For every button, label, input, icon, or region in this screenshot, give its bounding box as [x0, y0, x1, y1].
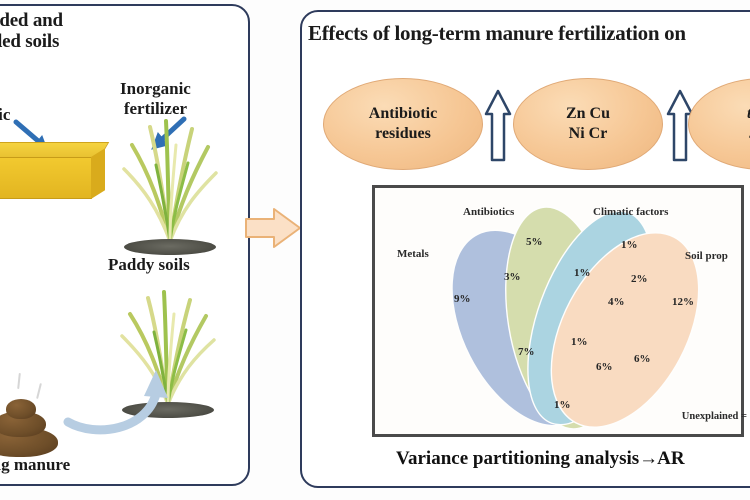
right-arrow-icon [244, 205, 304, 251]
venn-unexplained-label: Unexplained = [682, 411, 747, 422]
ellipse-antibiotic-residues: Antibiotic residues [323, 78, 483, 170]
venn-percent: 6% [596, 361, 613, 373]
ellipse-metals: Zn Cu Ni Cr [513, 78, 663, 170]
venn-label-antibiotics: Antibiotics [463, 206, 514, 218]
rice-plant-icon [110, 105, 230, 255]
venn-percent: 1% [574, 267, 591, 279]
figure-canvas: nic-amended andre-amended soils otic Ino… [0, 0, 750, 500]
venn-percent: 4% [608, 296, 625, 308]
venn-percent: 12% [672, 296, 694, 308]
venn-percent: 1% [571, 336, 588, 348]
caption-tail: AR [657, 448, 684, 469]
caption-text: Variance partitioning analysis [396, 448, 639, 469]
venn-label-metals: Metals [397, 248, 429, 260]
venn-percent: 2% [631, 273, 648, 285]
ellipse-line-2: Ni Cr [566, 124, 610, 144]
antibiotic-block-icon [0, 142, 100, 200]
venn-label-soil: Soil prop [685, 250, 728, 262]
ellipse-line-1: Antibiotic [369, 104, 437, 124]
curved-arrow-icon [62, 360, 182, 440]
paddy-soils-label: Paddy soils [108, 255, 190, 274]
venn-percent: 1% [621, 239, 638, 251]
venn-percent: 3% [504, 271, 521, 283]
right-panel-title: Effects of long-term manure fertilizatio… [308, 22, 686, 46]
manure-pile-icon [0, 385, 62, 457]
venn-percent: 6% [634, 353, 651, 365]
antibiotic-label: otic [0, 105, 10, 124]
caption-arrow-icon: → [639, 448, 657, 469]
venn-ellipses [375, 188, 741, 434]
venn-percent: 7% [518, 346, 535, 358]
venn-percent: 5% [526, 236, 543, 248]
ellipse-line-2: residues [369, 124, 437, 144]
venn-percent: 1% [554, 399, 571, 411]
venn-label-climatic: Climatic factors [593, 206, 668, 218]
up-arrow-icon [483, 88, 513, 164]
venn-caption: Variance partitioning analysis→AR [396, 448, 685, 470]
pig-manure-label: Pig manure [0, 455, 70, 474]
venn-diagram-panel: Metals Antibiotics Climatic factors Soil… [372, 185, 744, 437]
ellipse-line-1: Zn Cu [566, 104, 610, 124]
left-panel-title: nic-amended andre-amended soils [0, 10, 63, 53]
venn-percent: 9% [454, 293, 471, 305]
